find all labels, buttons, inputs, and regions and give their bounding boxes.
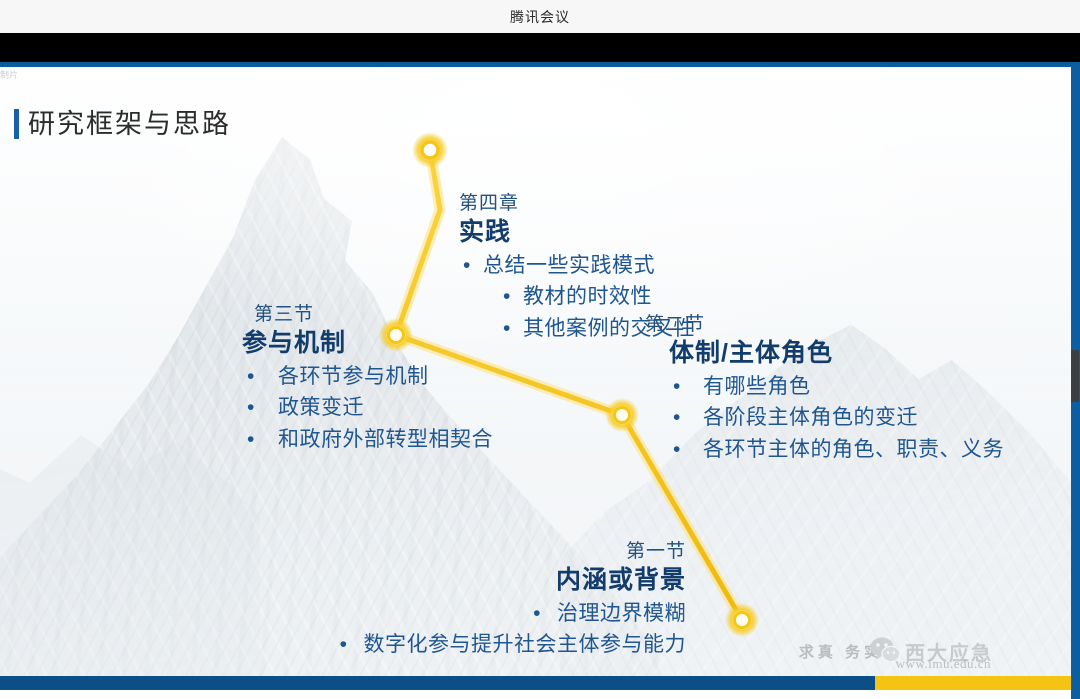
bullet-dot-icon: • (503, 281, 511, 313)
watermark-motto: 求真 务实 (799, 641, 883, 662)
bullet-dot-icon: • (533, 602, 541, 625)
section-3-label: 第三节 (254, 303, 493, 327)
window-titlebar: 腾讯会议 (0, 0, 1080, 34)
section-1-bullet-list: •治理边界模糊 •数字化参与提升社会主体参与能力 (286, 598, 686, 661)
wechat-watermark: 求真 务实 西大应急 (799, 634, 993, 668)
bullet-dot-icon: • (247, 424, 255, 456)
chapter-4-heading: 实践 (459, 216, 695, 250)
slide-title-text: 研究框架与思路 (28, 111, 231, 138)
list-item: •政策变迁 (242, 392, 493, 424)
slide-footer-accent (875, 676, 1071, 690)
node-section-1-glow (725, 603, 759, 637)
content-block-section-2: 第二节 体制/主体角色 •有哪些角色 •各阶段主体角色的变迁 •各环节主体的角色… (645, 313, 1004, 465)
node-section-1 (735, 613, 750, 628)
bullet-text: 治理边界模糊 (557, 598, 686, 630)
section-2-bullet-list: •有哪些角色 •各阶段主体角色的变迁 •各环节主体的角色、职责、义务 (645, 371, 1004, 466)
bullet-text: 各环节主体的角色、职责、义务 (703, 434, 1004, 466)
wechat-icon (869, 634, 903, 668)
section-3-bullet-list: •各环节参与机制 •政策变迁 •和政府外部转型相契合 (242, 361, 493, 456)
node-section-2 (615, 408, 630, 423)
presentation-slide: 研究框架与思路 (0, 67, 1071, 690)
bullet-text: 总结一些实践模式 (483, 250, 655, 282)
list-item: •数字化参与提升社会主体参与能力 (286, 629, 686, 661)
bullet-text: 和政府外部转型相契合 (278, 424, 493, 456)
page-title: 研究框架与思路 (14, 109, 231, 139)
watermark-url: www.imu.edu.cn (896, 656, 991, 672)
content-block-section-3: 第三节 参与机制 •各环节参与机制 •政策变迁 •和政府外部转型相契合 (242, 303, 493, 455)
list-item: •各环节主体的角色、职责、义务 (645, 434, 1004, 466)
bullet-dot-icon: • (673, 402, 681, 434)
bullet-dot-icon: • (673, 371, 681, 403)
node-section-2-glow (605, 398, 639, 432)
mountain-left-ridge (0, 367, 260, 690)
list-item: •总结一些实践模式 (455, 250, 695, 282)
section-1-label: 第一节 (286, 540, 686, 564)
section-2-heading: 体制/主体角色 (669, 337, 1004, 371)
node-chapter-4-glow (412, 132, 448, 168)
letterbox-top (0, 33, 1080, 62)
bullet-text: 有哪些角色 (703, 371, 811, 403)
chapter-4-label: 第四章 (459, 192, 695, 216)
list-item: •和政府外部转型相契合 (242, 424, 493, 456)
ghost-toolbar-label: 制片 (0, 68, 42, 83)
vertical-scrollbar-thumb[interactable] (1071, 350, 1079, 402)
list-item: •有哪些角色 (645, 371, 1004, 403)
bullet-text: 数字化参与提升社会主体参与能力 (364, 629, 687, 661)
list-item: •各阶段主体角色的变迁 (645, 402, 1004, 434)
node-chapter-4 (422, 142, 438, 158)
bullet-dot-icon: • (340, 633, 348, 656)
bullet-dot-icon: • (503, 313, 511, 345)
bullet-text: 政策变迁 (278, 392, 364, 424)
section-2-label: 第二节 (645, 313, 1004, 337)
list-item: •治理边界模糊 (286, 598, 686, 630)
tencent-meeting-window: 腾讯会议 研究框架与思路 (0, 0, 1080, 699)
content-block-section-1: 第一节 内涵或背景 •治理边界模糊 •数字化参与提升社会主体参与能力 (286, 540, 686, 661)
list-item: •各环节参与机制 (242, 361, 493, 393)
bullet-dot-icon: • (463, 250, 471, 282)
section-1-heading: 内涵或背景 (286, 564, 686, 598)
watermark-account-name: 西大应急 (905, 637, 993, 666)
title-accent-bar (14, 109, 19, 139)
bullet-dot-icon: • (673, 434, 681, 466)
bullet-text: 各阶段主体角色的变迁 (703, 402, 918, 434)
bullet-text: 各环节参与机制 (278, 361, 429, 393)
bullet-dot-icon: • (247, 392, 255, 424)
shared-screen-viewport[interactable]: 研究框架与思路 (0, 62, 1080, 699)
app-title: 腾讯会议 (510, 7, 570, 27)
bullet-dot-icon: • (247, 361, 255, 393)
section-3-heading: 参与机制 (242, 327, 493, 361)
bullet-text: 教材的时效性 (523, 281, 652, 313)
